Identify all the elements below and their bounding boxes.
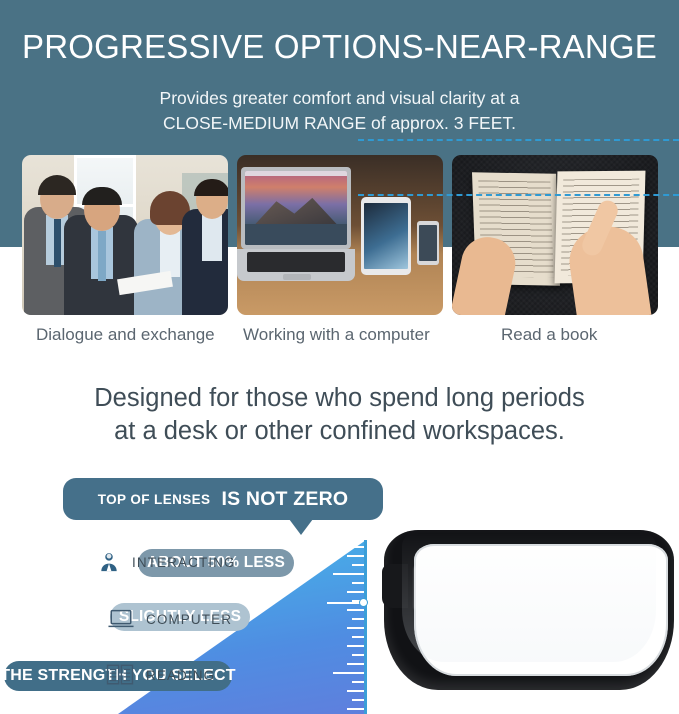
guide-line-interacting-computer bbox=[358, 139, 679, 141]
ruler-axis-line bbox=[364, 540, 367, 714]
person-icon bbox=[98, 551, 120, 573]
vision-zone-interacting: INTERACTING bbox=[98, 551, 236, 573]
ruler-pointer-line bbox=[327, 602, 363, 604]
thumbnail-meeting bbox=[22, 155, 228, 315]
page-title: PROGRESSIVE OPTIONS-NEAR-RANGE bbox=[0, 28, 679, 66]
page-subtitle-line-2: CLOSE-MEDIUM RANGE of approx. 3 FEET. bbox=[0, 111, 679, 136]
tablet-device bbox=[361, 197, 411, 275]
subhead-line-1: Designed for those who spend long period… bbox=[0, 382, 679, 415]
callout-top-of-lenses-emphasis: IS NOT ZERO bbox=[221, 488, 348, 511]
caption-dialogue: Dialogue and exchange bbox=[36, 325, 215, 345]
vision-zone-computer-label: COMPUTER bbox=[146, 612, 232, 627]
vision-zone-reading-label: READING bbox=[146, 668, 215, 683]
glasses-lens bbox=[414, 544, 668, 676]
page-subtitle-line-1: Provides greater comfort and visual clar… bbox=[0, 86, 679, 111]
laptop-device bbox=[241, 167, 351, 287]
glasses-frame bbox=[384, 530, 674, 690]
callout-top-of-lenses[interactable]: TOP OF LENSES IS NOT ZERO bbox=[63, 478, 383, 520]
subhead-line-2: at a desk or other confined workspaces. bbox=[0, 415, 679, 448]
vision-zone-reading: READING bbox=[106, 663, 215, 687]
ruler-tick-marks bbox=[333, 540, 364, 714]
page-subtitle: Provides greater comfort and visual clar… bbox=[0, 86, 679, 136]
section-subhead: Designed for those who spend long period… bbox=[0, 382, 679, 448]
thumbnail-captions: Dialogue and exchange Working with a com… bbox=[0, 325, 679, 351]
frame-highlight bbox=[414, 566, 420, 610]
vision-zone-computer: COMPUTER bbox=[108, 608, 232, 630]
caption-computer: Working with a computer bbox=[243, 325, 430, 345]
thumbnail-computer bbox=[237, 155, 443, 315]
vision-zone-interacting-label: INTERACTING bbox=[132, 555, 236, 570]
open-book-icon bbox=[106, 663, 134, 687]
caption-reading: Read a book bbox=[501, 325, 597, 345]
callout-top-of-lenses-label: TOP OF LENSES bbox=[98, 492, 211, 507]
laptop-icon bbox=[108, 608, 134, 630]
glasses-temple-arm bbox=[382, 564, 408, 608]
person-figure bbox=[64, 187, 138, 315]
person-figure bbox=[182, 179, 228, 315]
thumbnail-row bbox=[0, 155, 679, 315]
ruler-pointer-dot bbox=[359, 598, 368, 607]
guide-line-computer-reading bbox=[358, 194, 679, 196]
thumbnail-reading bbox=[452, 155, 658, 315]
open-book-photo bbox=[452, 155, 658, 315]
callout-pointer-tail bbox=[289, 519, 313, 535]
eyeglasses-graphic bbox=[372, 512, 679, 714]
desk-laptop-photo bbox=[237, 155, 443, 315]
meeting-photo bbox=[22, 155, 228, 315]
phone-device bbox=[417, 221, 439, 265]
